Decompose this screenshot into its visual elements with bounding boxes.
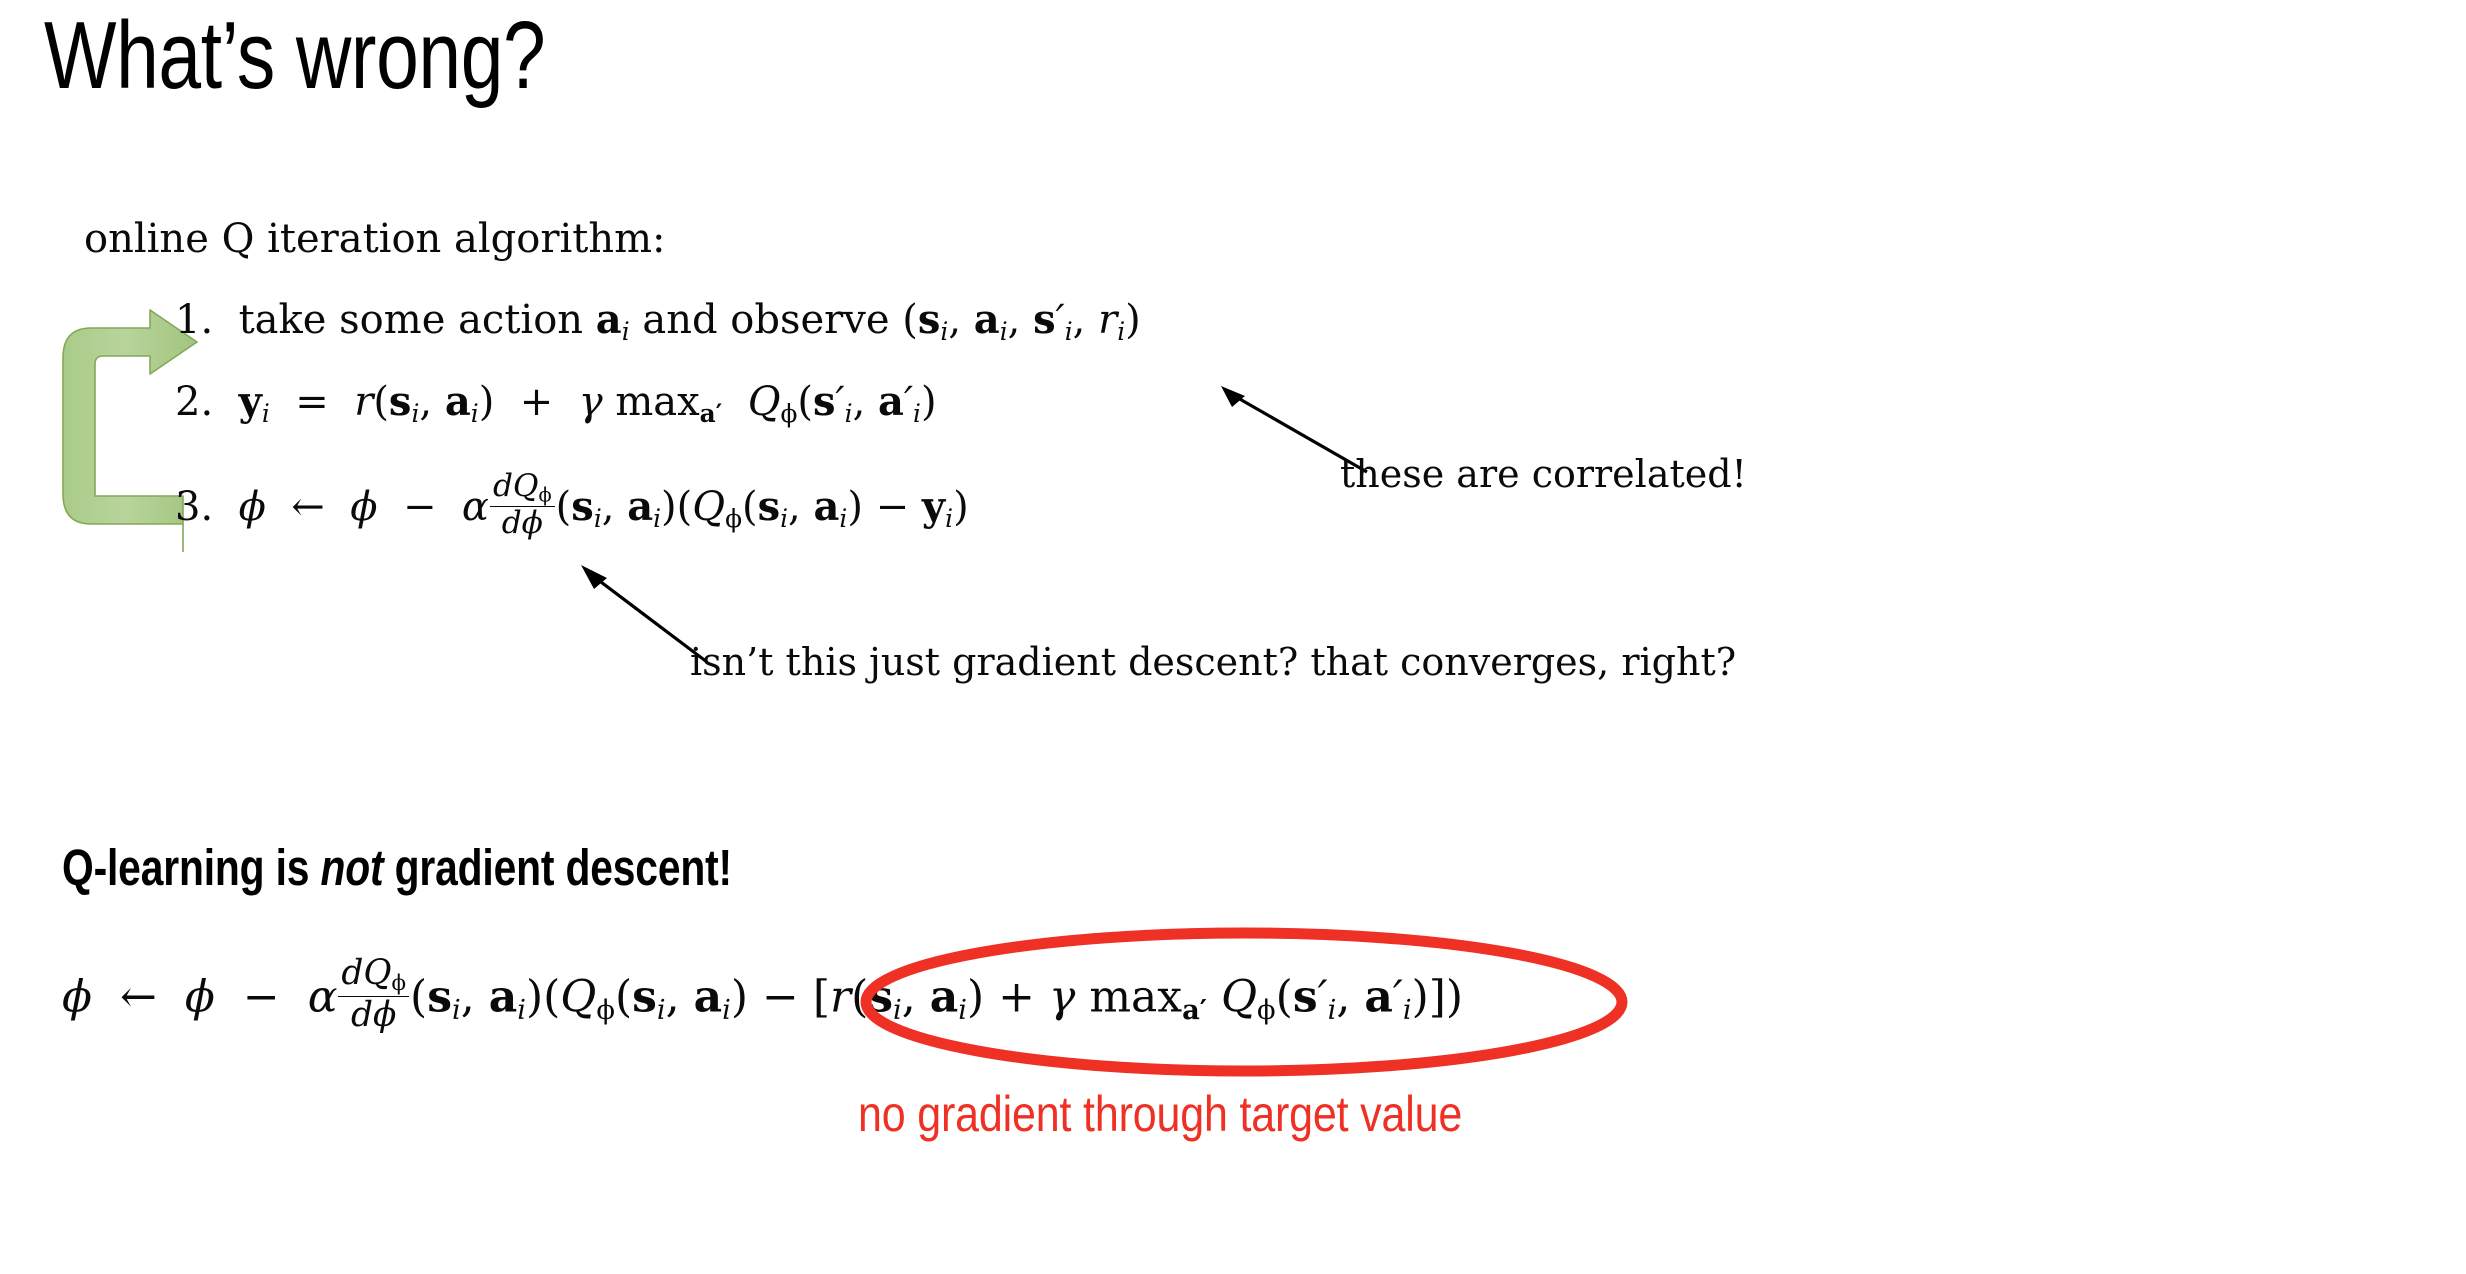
statement-pre: Q-learning is [62, 839, 320, 896]
algorithm-step-3: 3. ϕ ← ϕ − αdQϕdϕ(si, ai)(Qϕ(si, ai) − y… [175, 470, 969, 541]
statement-post: gradient descent! [383, 839, 732, 896]
page-title: What’s wrong? [44, 0, 545, 116]
conclusion-statement: Q-learning is not gradient descent! [62, 838, 732, 897]
algorithm-step-2: 2. yi = r(si, ai) + γ maxa′ Qϕ(s′i, a′i) [175, 378, 937, 428]
statement-emphasis: not [320, 839, 383, 896]
callout-correlated: these are correlated! [1340, 452, 1747, 496]
conclusion-equation: ϕ ← ϕ − αdQϕdϕ(si, ai)(Qϕ(si, ai) − [r(s… [62, 955, 1463, 1034]
highlight-caption: no gradient through target value [858, 1085, 1718, 1143]
algorithm-header: online Q iteration algorithm: [84, 216, 666, 262]
callout-gradient-descent: isn’t this just gradient descent? that c… [690, 640, 1736, 684]
algorithm-step-1: 1. take some action ai and observe (si, … [175, 296, 1141, 346]
